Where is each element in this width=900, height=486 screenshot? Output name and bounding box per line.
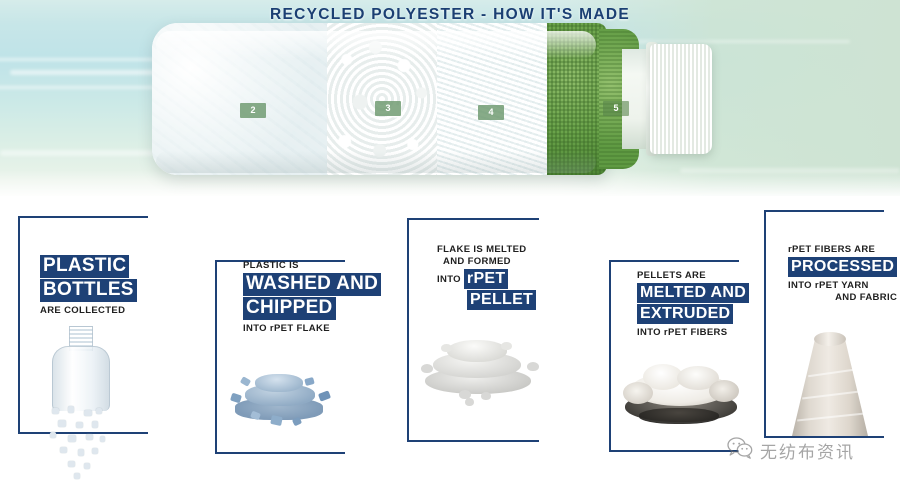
- bottle-badge-3: 3: [375, 101, 401, 116]
- bottle-segment-white-flakes: [327, 23, 437, 175]
- bottle-segment-granules: [437, 23, 547, 175]
- step-pre-text: INTO: [437, 274, 461, 289]
- bottle-segment-green-fabric: [547, 23, 607, 175]
- step-washed-chipped: PLASTIC IS WASHED AND CHIPPED INTO rPET …: [195, 196, 395, 486]
- step-pre-text: PLASTIC IS: [243, 260, 381, 272]
- pet-bottle-shape: [52, 326, 108, 410]
- cone-body: [792, 340, 868, 436]
- bottle-badge-4: 4: [478, 105, 504, 120]
- step-highlight-line: PELLET: [467, 290, 536, 310]
- cone-top: [814, 332, 846, 346]
- step-highlight-line: EXTRUDED: [637, 304, 733, 324]
- step-rpet-pellet: FLAKE IS MELTED AND FORMED INTO rPET PEL…: [393, 196, 598, 486]
- step-highlight-line: CHIPPED: [243, 297, 336, 320]
- step-post-text: ARE COLLECTED: [40, 305, 137, 317]
- step-highlight-line: rPET: [464, 269, 509, 289]
- wechat-icon: [727, 437, 753, 464]
- bottle-body: [152, 23, 607, 175]
- bottle-badge-5: 5: [603, 101, 629, 116]
- step-highlight-line: PLASTIC: [40, 255, 129, 278]
- step-pre-text: rPET FIBERS ARE: [788, 244, 897, 256]
- step-highlight-line: WASHED AND: [243, 273, 381, 296]
- bottle-shoulder-shape: [52, 346, 110, 411]
- watermark: 无纺布资讯: [727, 437, 855, 464]
- step-label: PLASTIC IS WASHED AND CHIPPED INTO rPET …: [243, 260, 381, 335]
- recycled-polyester-bottle-illustration: [152, 23, 712, 175]
- bottle-segment-clear-flakes: [152, 23, 327, 175]
- step-post-text: INTO rPET FIBERS: [637, 327, 749, 339]
- step-label: FLAKE IS MELTED AND FORMED INTO rPET PEL…: [437, 244, 536, 311]
- step-post-text: INTO rPET YARN: [788, 280, 897, 292]
- step-label: PLASTIC BOTTLES ARE COLLECTED: [40, 254, 137, 317]
- yarn-cone: [792, 328, 868, 436]
- step-pre-text: FLAKE IS MELTED: [437, 244, 536, 256]
- step-pre-text: AND FORMED: [437, 256, 536, 268]
- step-highlight-line: PROCESSED: [788, 257, 897, 277]
- watermark-text: 无纺布资讯: [760, 438, 855, 463]
- step-highlight-line: BOTTLES: [40, 279, 137, 302]
- fiber-cloud: [621, 364, 745, 434]
- infographic-root: RECYCLED POLYESTER - HOW IT'S MADE 2 3 4…: [0, 0, 900, 486]
- step-post-text: AND FABRIC: [788, 292, 897, 304]
- step-highlight-line: MELTED AND: [637, 283, 749, 303]
- blue-flake-pile: [227, 368, 331, 424]
- page-title: RECYCLED POLYESTER - HOW IT'S MADE: [0, 6, 900, 24]
- step-plastic-bottles: PLASTIC BOTTLES ARE COLLECTED: [0, 196, 200, 486]
- step-label: rPET FIBERS ARE PROCESSED INTO rPET YARN…: [788, 244, 897, 304]
- step-label: PELLETS ARE MELTED AND EXTRUDED INTO rPE…: [637, 270, 749, 339]
- step-post-text: INTO rPET FLAKE: [243, 323, 381, 335]
- bottle-badge-2: 2: [240, 103, 266, 118]
- bottle-cap: [650, 44, 712, 154]
- falling-flakes: [38, 406, 118, 484]
- pellet-pile: [419, 336, 539, 398]
- step-pre-text: PELLETS ARE: [637, 270, 749, 282]
